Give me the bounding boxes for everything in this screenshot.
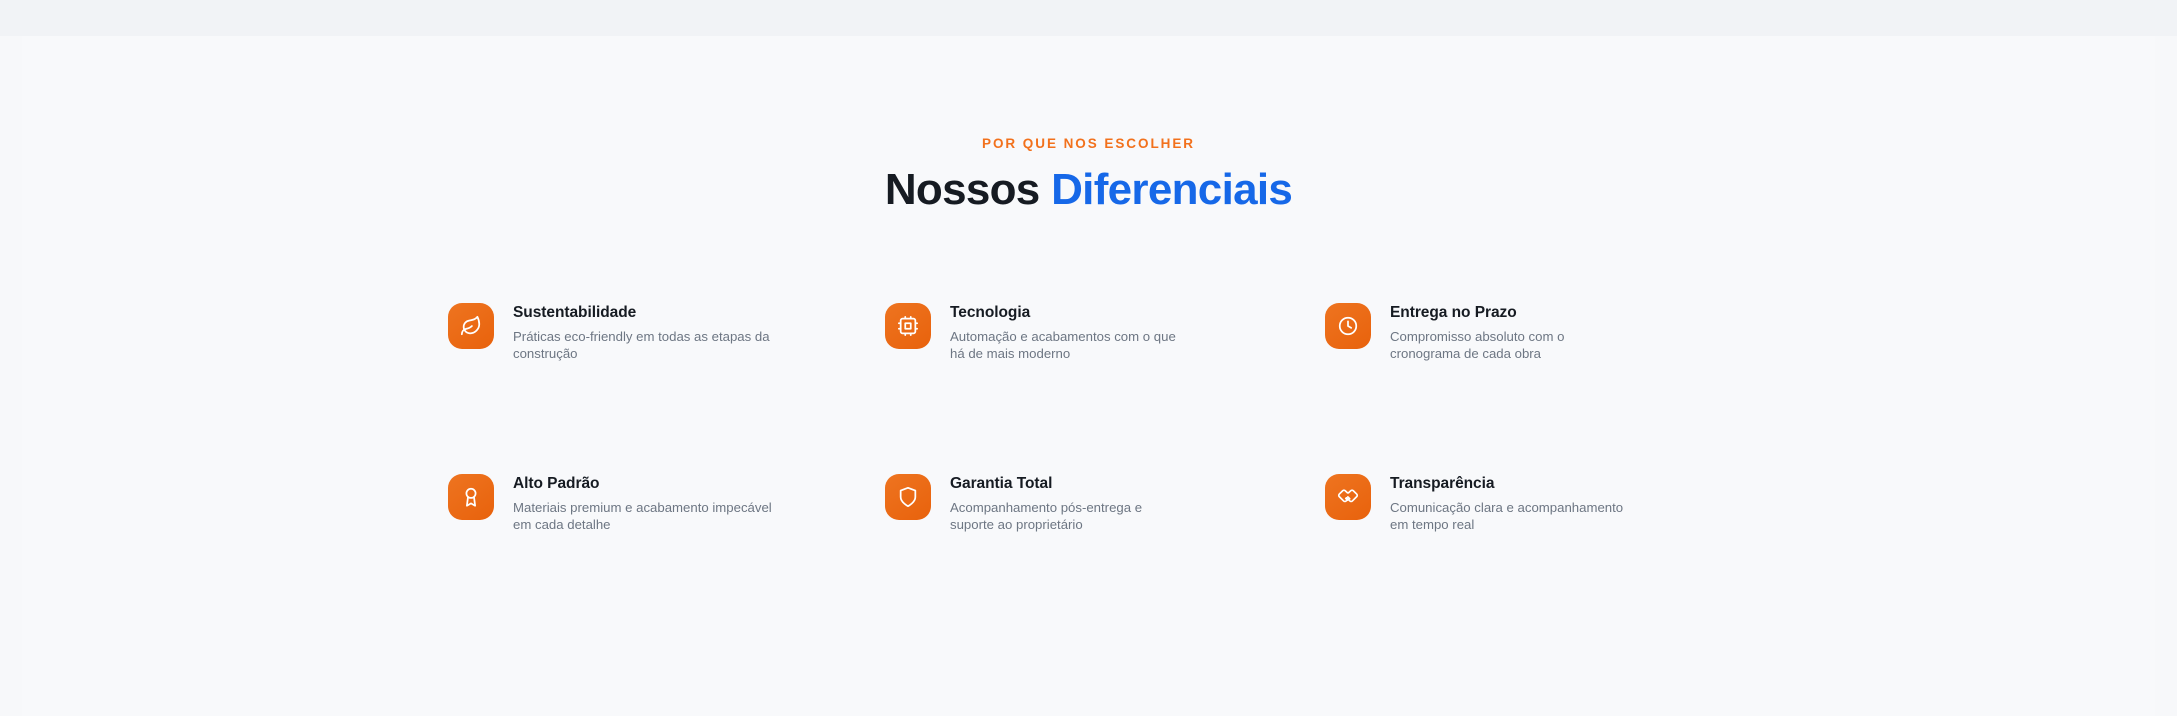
feature-title: Alto Padrão [513,475,775,493]
feature-item-garantia-total[interactable]: Garantia Total Acompanhamento pós-entreg… [885,474,1325,533]
feature-description: Automação e acabamentos com o que há de … [950,329,1186,362]
feature-icon-wrapper [885,303,931,349]
feature-title: Garantia Total [950,475,1186,493]
headline-accent: Diferenciais [1051,165,1292,214]
handshake-icon [1337,486,1359,508]
feature-text: Transparência Comunicação clara e acompa… [1390,474,1626,533]
feature-title: Sustentabilidade [513,304,775,322]
feature-description: Acompanhamento pós-entrega e suporte ao … [950,500,1186,533]
section-top-divider [0,0,2177,36]
page-title: Nossos Diferenciais [0,165,2177,215]
feature-description: Práticas eco-friendly em todas as etapas… [513,329,775,362]
differentials-section: POR QUE NOS ESCOLHER Nossos Diferenciais… [0,0,2177,716]
shield-icon [897,486,919,508]
section-eyebrow: POR QUE NOS ESCOLHER [0,136,2177,151]
feature-title: Entrega no Prazo [1390,304,1626,322]
headline-lead: Nossos [885,165,1040,214]
feature-item-transparencia[interactable]: Transparência Comunicação clara e acompa… [1325,474,1738,533]
feature-title: Tecnologia [950,304,1186,322]
feature-text: Entrega no Prazo Compromisso absoluto co… [1390,303,1626,362]
feature-text: Alto Padrão Materiais premium e acabamen… [513,474,775,533]
cpu-chip-icon [897,315,919,337]
feature-item-entrega-no-prazo[interactable]: Entrega no Prazo Compromisso absoluto co… [1325,303,1738,474]
feature-item-alto-padrao[interactable]: Alto Padrão Materiais premium e acabamen… [448,474,885,533]
feature-text: Garantia Total Acompanhamento pós-entreg… [950,474,1186,533]
award-ribbon-icon [460,486,482,508]
feature-icon-wrapper [1325,474,1371,520]
feature-icon-wrapper [885,474,931,520]
feature-text: Tecnologia Automação e acabamentos com o… [950,303,1186,362]
feature-description: Materiais premium e acabamento impecável… [513,500,775,533]
features-grid: Sustentabilidade Práticas eco-friendly e… [448,303,1738,533]
feature-description: Compromisso absoluto com o cronograma de… [1390,329,1626,362]
feature-item-tecnologia[interactable]: Tecnologia Automação e acabamentos com o… [885,303,1325,474]
feature-title: Transparência [1390,475,1626,493]
clock-icon [1337,315,1359,337]
feature-description: Comunicação clara e acompanhamento em te… [1390,500,1626,533]
feature-icon-wrapper [1325,303,1371,349]
feature-icon-wrapper [448,474,494,520]
feature-text: Sustentabilidade Práticas eco-friendly e… [513,303,775,362]
leaf-icon [460,315,482,337]
feature-icon-wrapper [448,303,494,349]
feature-item-sustentabilidade[interactable]: Sustentabilidade Práticas eco-friendly e… [448,303,885,474]
